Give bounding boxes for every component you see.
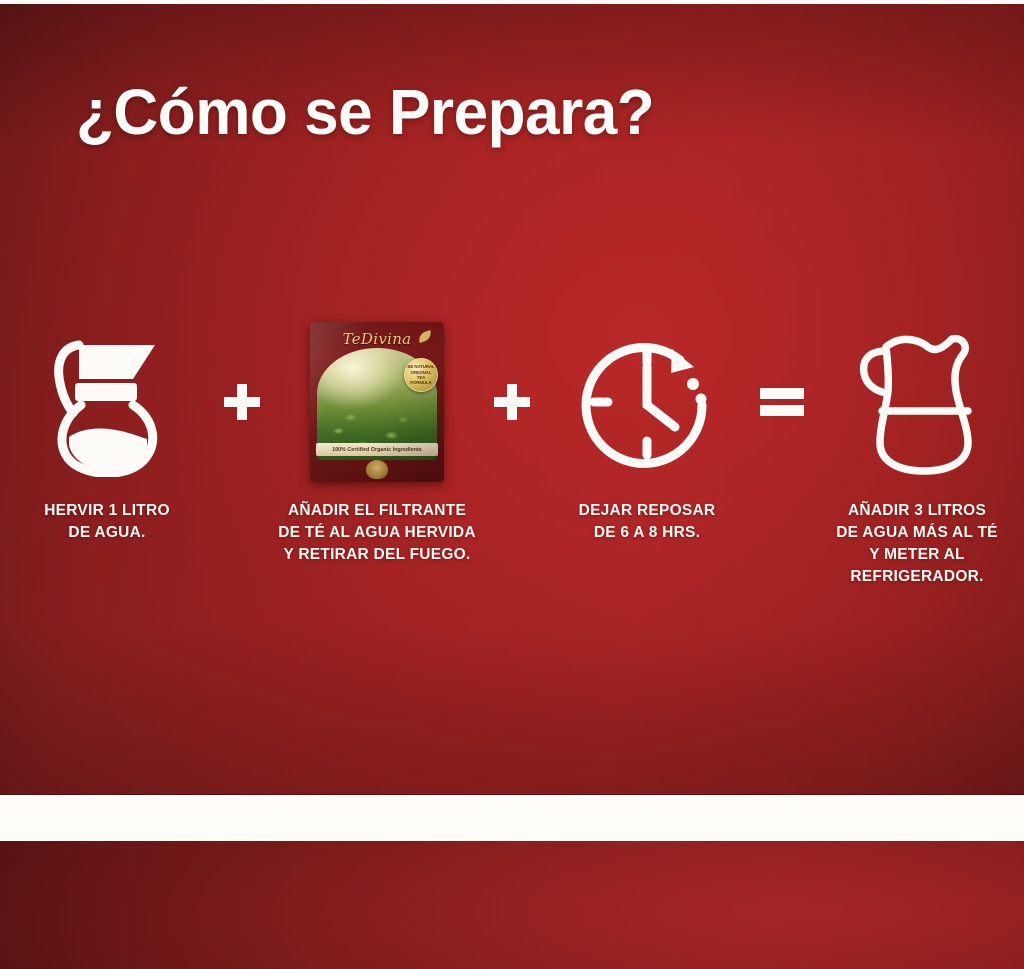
equals-icon xyxy=(754,318,810,486)
step-3-steep-time: DEJAR REPOSAR DE 6 A 8 HRS. xyxy=(540,318,754,544)
white-divider-band xyxy=(0,795,1024,841)
page-title: ¿Cómo se Prepara? xyxy=(76,80,654,144)
step-2-caption: AÑADIR EL FILTRANTE DE TÉ AL AGUA HERVID… xyxy=(278,500,476,566)
tea-package-front: TeDivina BE NATURAL ORIGINAL TEA FORMULA… xyxy=(310,322,444,482)
bottom-red-panel xyxy=(0,841,1024,969)
plus-icon xyxy=(484,318,540,486)
step-4-caption: AÑADIR 3 LITROS DE AGUA MÁS AL TÉ Y METE… xyxy=(836,500,998,588)
step-1-caption: HERVIR 1 LITRO DE AGUA. xyxy=(44,500,170,544)
clock-icon xyxy=(540,318,754,486)
kettle-pot-icon xyxy=(0,318,214,486)
steps-row: HERVIR 1 LITRO DE AGUA. TeDivina BE NATU… xyxy=(0,318,1024,588)
pitcher-jug-icon xyxy=(810,318,1024,486)
tea-package-icon: TeDivina BE NATURAL ORIGINAL TEA FORMULA… xyxy=(270,318,484,486)
organic-banner: 100% Certified Organic Ingredients xyxy=(316,443,438,456)
step-1-boil-water: HERVIR 1 LITRO DE AGUA. xyxy=(0,318,214,544)
preparation-instructions-poster: ¿Cómo se Prepara? HERVIR 1 LITRO DE AGUA… xyxy=(0,0,1024,969)
step-2-add-tea-filter: TeDivina BE NATURAL ORIGINAL TEA FORMULA… xyxy=(270,318,484,566)
step-4-add-water-refrigerate: AÑADIR 3 LITROS DE AGUA MÁS AL TÉ Y METE… xyxy=(810,318,1024,588)
package-emblem-icon xyxy=(366,460,388,479)
organic-banner-text: 100% Certified Organic Ingredients xyxy=(332,447,422,453)
organic-seal-text: BE NATURAL ORIGINAL TEA FORMULA xyxy=(405,363,437,387)
step-3-caption: DEJAR REPOSAR DE 6 A 8 HRS. xyxy=(579,500,716,544)
organic-seal-badge: BE NATURAL ORIGINAL TEA FORMULA xyxy=(404,358,438,392)
plus-icon xyxy=(214,318,270,486)
